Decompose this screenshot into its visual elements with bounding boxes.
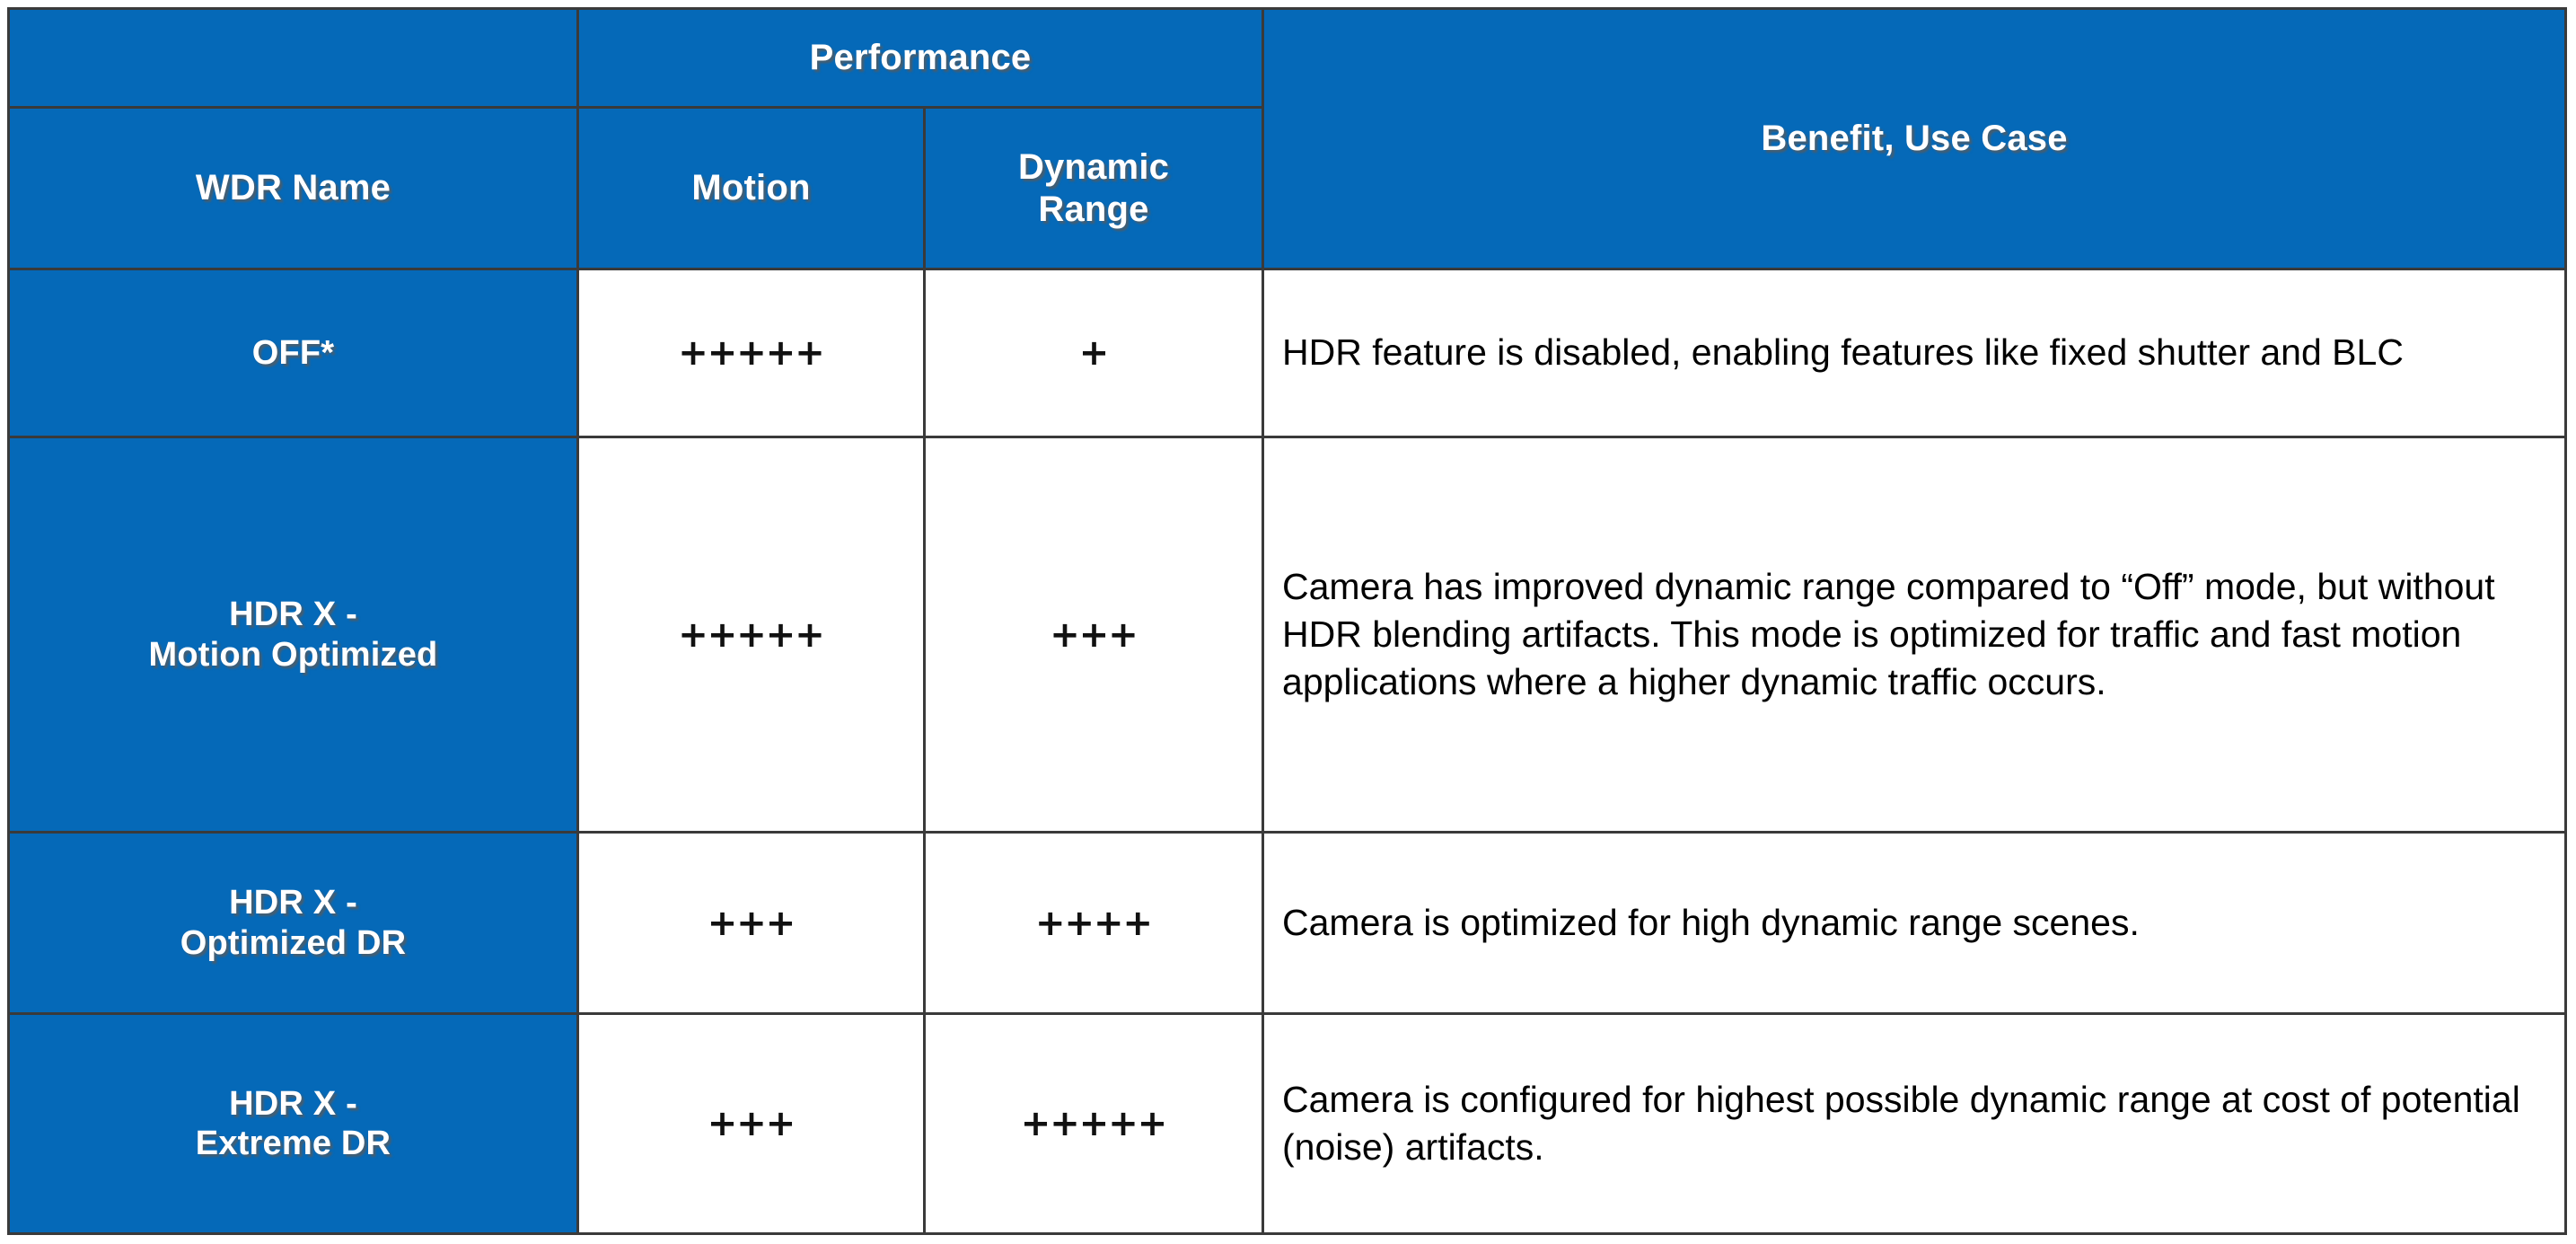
cell-dynamic-range-rating: +++++ [925,1014,1263,1234]
wdr-name-line1: HDR X - [10,883,576,922]
header-label-dynamic-range-line2: Range [926,189,1262,230]
motion-rating-value: +++ [579,1103,923,1144]
motion-rating-value: +++ [579,903,923,944]
cell-benefit-use-case: Camera has improved dynamic range compar… [1263,437,2566,833]
motion-rating-value: +++++ [579,332,923,374]
header-cell-wdr-name: WDR Name [9,108,578,269]
motion-rating-value: +++++ [579,614,923,656]
header-cell-dynamic-range: Dynamic Range [925,108,1263,269]
wdr-name-line2: Extreme DR [10,1124,576,1163]
header-cell-performance-group: Performance [578,9,1263,108]
benefit-use-case-text: Camera is configured for highest possibl… [1264,1076,2564,1172]
header-cell-motion: Motion [578,108,925,269]
header-label-wdr-name: WDR Name [10,167,576,208]
cell-wdr-name: HDR X - Motion Optimized [9,437,578,833]
cell-motion-rating: +++++ [578,269,925,437]
dynamic-range-rating-value: + [926,332,1262,374]
header-cell-benefit-use-case: Benefit, Use Case [1263,9,2566,269]
table-row: HDR X - Motion Optimized +++++ +++ Camer… [9,437,2566,833]
cell-wdr-name: HDR X - Optimized DR [9,833,578,1014]
cell-benefit-use-case: Camera is configured for highest possibl… [1263,1014,2566,1234]
header-label-dynamic-range-line1: Dynamic [926,146,1262,188]
wdr-comparison-table-container: Performance Benefit, Use Case WDR Name M… [7,7,2564,1232]
table-row: OFF* +++++ + HDR feature is disabled, en… [9,269,2566,437]
header-label-benefit-use-case: Benefit, Use Case [1264,118,2564,159]
header-label-motion: Motion [579,167,923,208]
table-row: HDR X - Extreme DR +++ +++++ Camera is c… [9,1014,2566,1234]
table-row: HDR X - Optimized DR +++ ++++ Camera is … [9,833,2566,1014]
wdr-comparison-table: Performance Benefit, Use Case WDR Name M… [7,7,2567,1235]
cell-motion-rating: +++ [578,1014,925,1234]
header-label-performance: Performance [579,37,1262,78]
cell-dynamic-range-rating: ++++ [925,833,1263,1014]
cell-dynamic-range-rating: +++ [925,437,1263,833]
cell-motion-rating: +++++ [578,437,925,833]
cell-dynamic-range-rating: + [925,269,1263,437]
dynamic-range-rating-value: +++++ [926,1103,1262,1144]
cell-benefit-use-case: HDR feature is disabled, enabling featur… [1263,269,2566,437]
wdr-name-line2: Optimized DR [10,923,576,963]
benefit-use-case-text: Camera is optimized for high dynamic ran… [1264,899,2564,947]
cell-benefit-use-case: Camera is optimized for high dynamic ran… [1263,833,2566,1014]
cell-wdr-name: OFF* [9,269,578,437]
benefit-use-case-text: HDR feature is disabled, enabling featur… [1264,329,2564,376]
wdr-name-line1: HDR X - [10,595,576,634]
header-cell-spacer [9,9,578,108]
cell-motion-rating: +++ [578,833,925,1014]
cell-wdr-name: HDR X - Extreme DR [9,1014,578,1234]
wdr-name-line1: HDR X - [10,1084,576,1124]
dynamic-range-rating-value: ++++ [926,903,1262,944]
wdr-name-line1: OFF* [10,333,576,373]
dynamic-range-rating-value: +++ [926,614,1262,656]
benefit-use-case-text: Camera has improved dynamic range compar… [1264,563,2564,707]
table-header-row-group: Performance Benefit, Use Case [9,9,2566,108]
wdr-name-line2: Motion Optimized [10,635,576,675]
